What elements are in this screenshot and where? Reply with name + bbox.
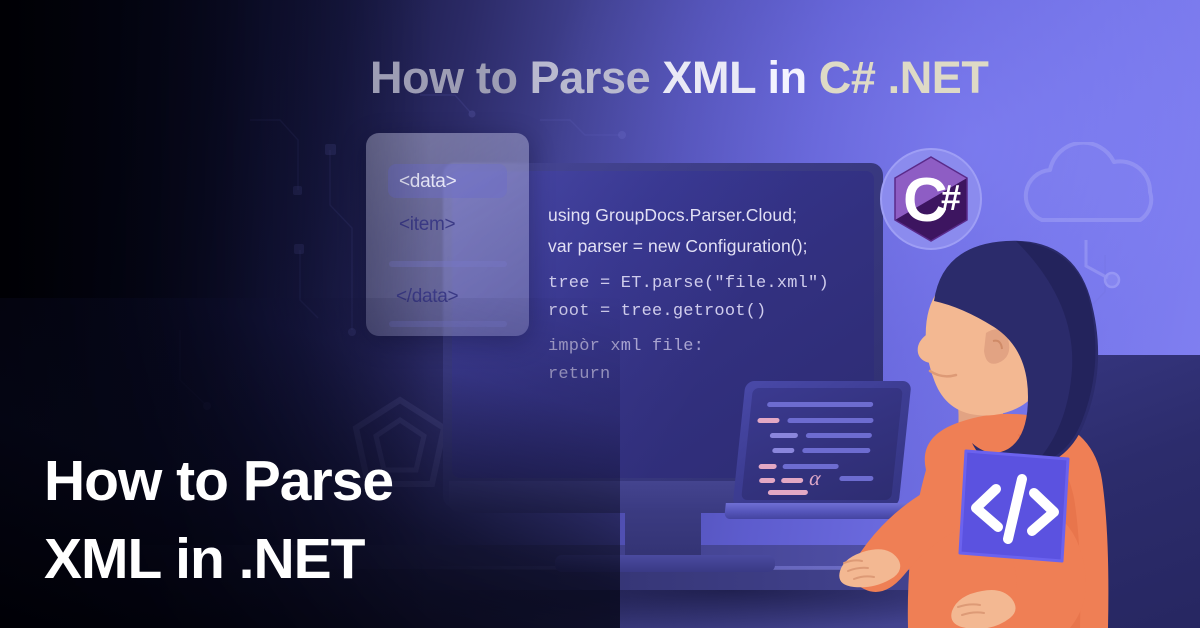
laptop-code-row	[759, 478, 776, 483]
svg-text:#: #	[941, 177, 961, 218]
code-line-1: using GroupDocs.Parser.Cloud;	[548, 205, 878, 226]
code-line-5: impòr xml file:	[548, 337, 878, 356]
code-gap-1	[548, 267, 878, 274]
xml-close-tag: </data>	[396, 286, 458, 308]
headline-line-2: XML in .NET	[44, 521, 514, 599]
top-title-segment-3: XML	[662, 52, 767, 103]
code-line-4: root = tree.getroot()	[548, 302, 878, 321]
monitor-stand-base	[555, 555, 775, 572]
headline-line-1: How to Parse	[44, 443, 514, 521]
tablet-device	[952, 443, 1078, 579]
banner-root: using GroupDocs.Parser.Cloud; var parser…	[0, 0, 1200, 628]
code-line-2: var parser = new Configuration();	[548, 236, 878, 257]
laptop-code-row	[757, 418, 780, 423]
top-title: How to Parse XML in C# .NET	[370, 52, 1170, 104]
laptop-code-row	[770, 433, 799, 438]
laptop-code-row	[768, 490, 809, 495]
top-title-segment-1: How to	[370, 52, 530, 103]
laptop-code-row	[758, 464, 777, 469]
laptop-code-row	[781, 478, 804, 483]
xml-divider-1	[389, 261, 507, 267]
xml-open-tag: <data>	[399, 171, 456, 193]
code-line-3: tree = ET.parse("file.xml")	[548, 274, 878, 293]
monitor-stand-neck	[625, 508, 701, 560]
top-title-segment-2: Parse	[530, 52, 663, 103]
laptop-code-row	[772, 448, 795, 453]
headline-block: How to Parse XML in .NET	[44, 443, 514, 598]
xml-document-card: <data> <item> </data>	[366, 133, 529, 336]
xml-child-tag: <item>	[399, 214, 455, 236]
monitor-code-block: using GroupDocs.Parser.Cloud; var parser…	[548, 205, 878, 393]
laptop-alpha-glyph: α	[808, 466, 822, 491]
xml-divider-2	[389, 321, 507, 327]
code-gap-2	[548, 330, 878, 337]
top-title-segment-4: in	[767, 52, 818, 103]
top-title-segment-5: C# .NET	[819, 52, 989, 103]
